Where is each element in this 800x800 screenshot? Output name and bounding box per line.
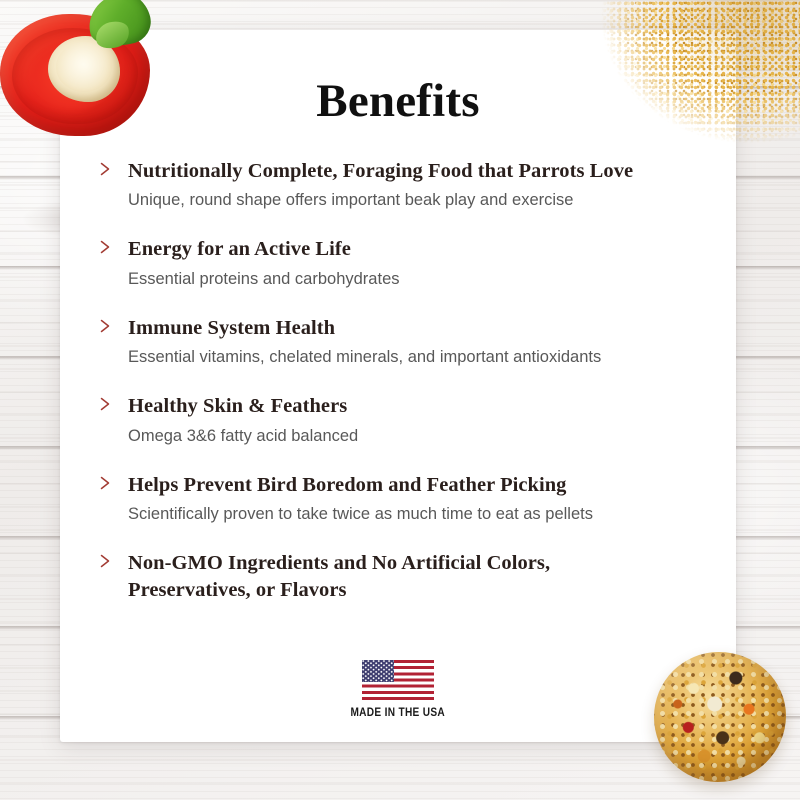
flag-canton bbox=[362, 660, 394, 682]
benefit-title: Helps Prevent Bird Boredom and Feather P… bbox=[128, 472, 708, 499]
made-in-usa-label: MADE IN THE USA bbox=[351, 707, 446, 719]
benefit-title: Energy for an Active Life bbox=[128, 236, 708, 263]
benefit-subtitle: Scientifically proven to take twice as m… bbox=[128, 504, 708, 525]
list-item: Healthy Skin & Feathers Omega 3&6 fatty … bbox=[96, 393, 708, 446]
list-item: Energy for an Active Life Essential prot… bbox=[96, 236, 708, 289]
list-item: Helps Prevent Bird Boredom and Feather P… bbox=[96, 472, 708, 525]
united-states-flag-icon bbox=[362, 660, 434, 700]
benefits-card: Benefits Nutritionally Complete, Foragin… bbox=[60, 30, 736, 742]
benefit-title: Immune System Health bbox=[128, 315, 708, 342]
chevron-right-icon bbox=[98, 396, 112, 412]
page-title: Benefits bbox=[60, 78, 736, 125]
benefit-title: Healthy Skin & Feathers bbox=[128, 393, 708, 420]
list-item: Nutritionally Complete, Foraging Food th… bbox=[96, 158, 708, 211]
benefit-subtitle: Omega 3&6 fatty acid balanced bbox=[128, 426, 708, 447]
benefit-title: Non-GMO Ingredients and No Artificial Co… bbox=[128, 550, 598, 604]
benefit-subtitle: Essential proteins and carbohydrates bbox=[128, 269, 708, 290]
chevron-right-icon bbox=[98, 239, 112, 255]
list-item: Non-GMO Ingredients and No Artificial Co… bbox=[96, 550, 708, 604]
list-item: Immune System Health Essential vitamins,… bbox=[96, 315, 708, 368]
made-in-usa-badge: MADE IN THE USA bbox=[60, 660, 736, 719]
benefit-subtitle: Unique, round shape offers important bea… bbox=[128, 190, 708, 211]
benefits-list: Nutritionally Complete, Foraging Food th… bbox=[96, 158, 708, 610]
flag-stars bbox=[362, 660, 394, 682]
chevron-right-icon bbox=[98, 553, 112, 569]
benefit-title: Nutritionally Complete, Foraging Food th… bbox=[128, 158, 708, 185]
chevron-right-icon bbox=[98, 475, 112, 491]
chevron-right-icon bbox=[98, 161, 112, 177]
chevron-right-icon bbox=[98, 318, 112, 334]
infographic-canvas: Benefits Nutritionally Complete, Foragin… bbox=[0, 0, 800, 800]
benefit-subtitle: Essential vitamins, chelated minerals, a… bbox=[128, 347, 708, 368]
